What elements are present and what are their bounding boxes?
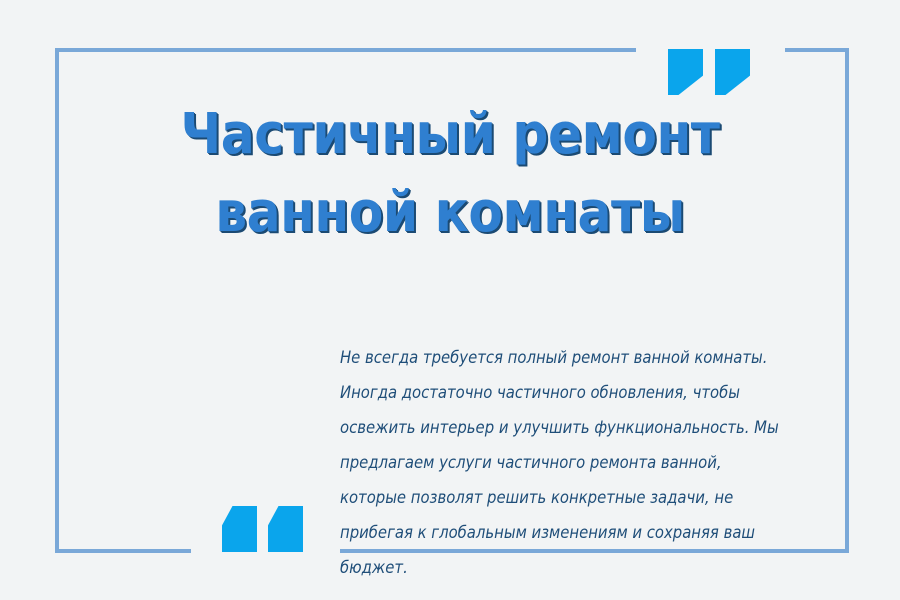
- body-paragraph: Не всегда требуется полный ремонт ванной…: [340, 340, 792, 585]
- quote-mark-icon: [715, 49, 750, 95]
- quote-mark-icon: [268, 506, 303, 552]
- frame-border-bottom-left-segment: [55, 549, 191, 553]
- body-text-block: Не всегда требуется полный ремонт ванной…: [340, 340, 792, 585]
- frame-border-top-right-segment: [785, 48, 849, 52]
- quote-mark-top-group: [668, 49, 750, 95]
- title-line-2: ванной комнаты: [0, 174, 900, 252]
- quote-mark-bottom-group: [222, 506, 303, 552]
- quote-mark-icon: [222, 506, 257, 552]
- title-line-1: Частичный ремонт: [0, 96, 900, 174]
- quote-mark-icon: [668, 49, 703, 95]
- page-title: Частичный ремонт ванной комнаты: [0, 96, 900, 252]
- frame-border-top-left-segment: [55, 48, 636, 52]
- slide-canvas: Частичный ремонт ванной комнаты Не всегд…: [0, 0, 900, 600]
